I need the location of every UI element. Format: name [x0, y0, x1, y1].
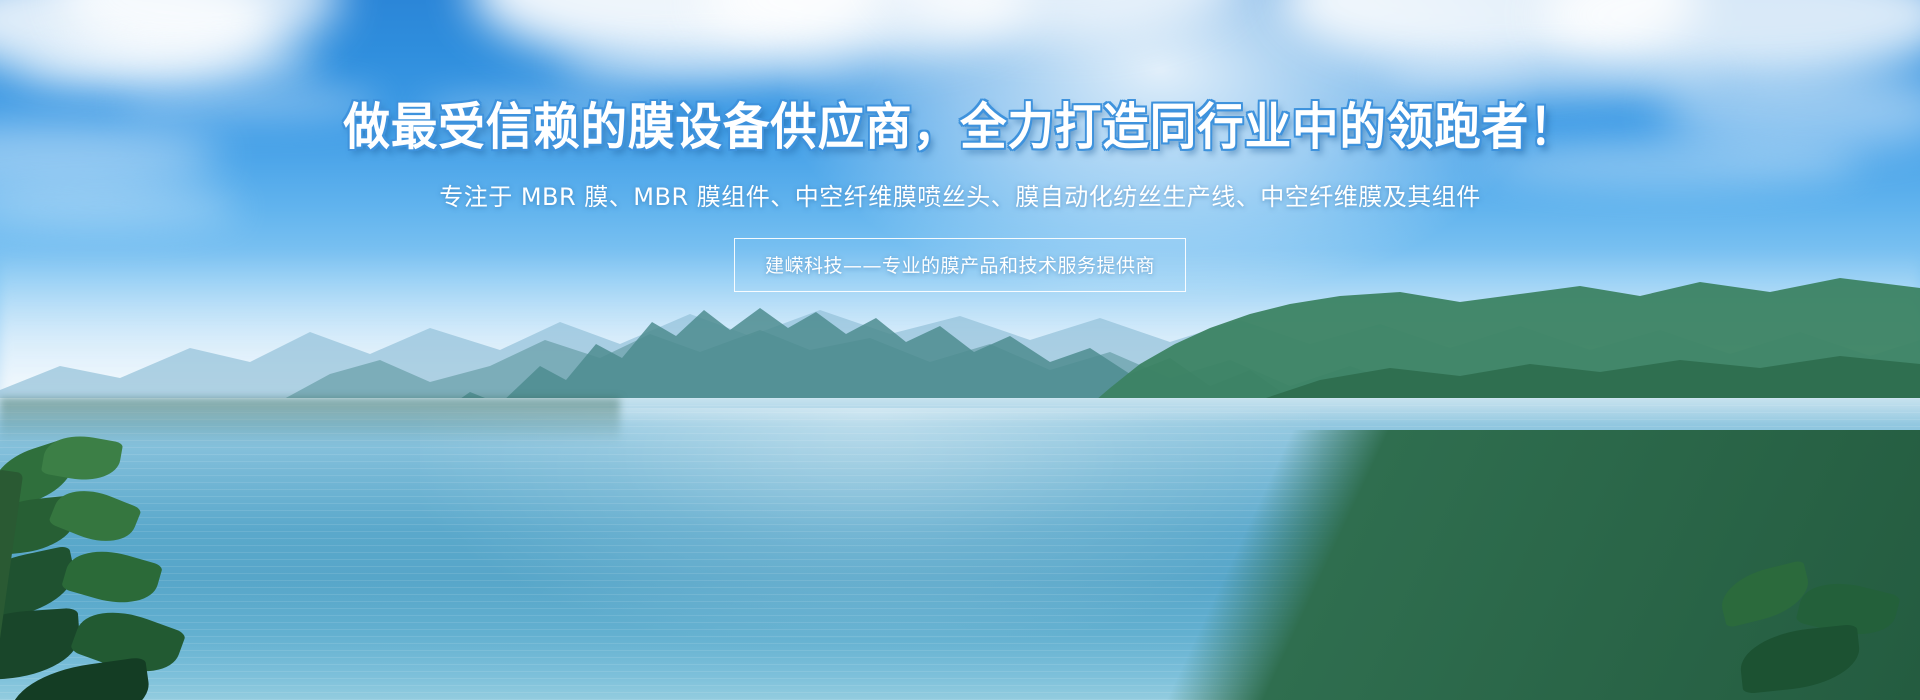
hero-banner: 做最受信赖的膜设备供应商，全力打造同行业中的领跑者！ 专注于 MBR 膜、MBR… — [0, 0, 1920, 700]
foreground-foliage-right — [1700, 560, 1920, 700]
foreground-foliage-left — [0, 430, 280, 700]
banner-tagline-box[interactable]: 建嵘科技——专业的膜产品和技术服务提供商 — [734, 238, 1186, 292]
